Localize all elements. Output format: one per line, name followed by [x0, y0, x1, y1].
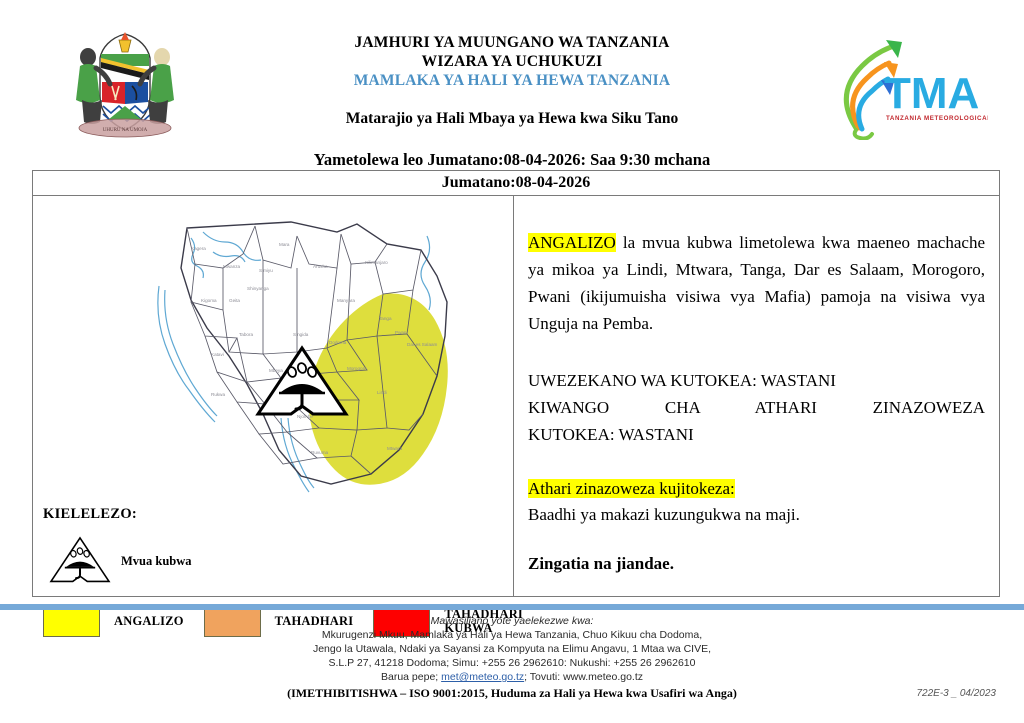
- document-footer: Mawasiliano yote yaelekezwe kwa: Mkuruge…: [0, 614, 1024, 700]
- footer-contact-intro: Mawasiliano yote yaelekezwe kwa:: [0, 614, 1024, 628]
- svg-text:Tanga: Tanga: [379, 316, 392, 321]
- tma-logo-icon: TMA TANZANIA METEOROLOGICAL AUTHORITY: [826, 36, 988, 140]
- svg-text:TANZANIA METEOROLOGICAL AUTHOR: TANZANIA METEOROLOGICAL AUTHORITY: [886, 115, 988, 122]
- svg-text:Lindi: Lindi: [377, 390, 387, 395]
- heavy-rain-triangle-icon: [49, 535, 111, 587]
- likelihood-line: UWEZEKANO WA KUTOKEA: WASTANI: [528, 367, 985, 394]
- footer-address-line-1: Mkurugenzi Mkuu, Mamlaka ya Hali ya Hewa…: [0, 628, 1024, 642]
- svg-text:Pwani: Pwani: [395, 330, 408, 335]
- svg-text:Simiyu: Simiyu: [259, 268, 273, 273]
- issued-datetime: Yametolewa leo Jumatano:08-04-2026: Saa …: [0, 150, 1024, 170]
- header-title-block: JAMHURI YA MUUNGANO WA TANZANIA WIZARA Y…: [200, 33, 824, 128]
- forecast-table: Jumatano:08-04-2026: [32, 170, 1000, 597]
- document-code: 722E-3 _ 04/2023: [916, 688, 996, 699]
- possible-impacts-block: Athari zinazoweza kujitokeza: Baadhi ya …: [528, 476, 985, 528]
- legend-title: KIELELEZO:: [43, 506, 513, 523]
- footer-email-prefix: Barua pepe;: [381, 671, 441, 683]
- svg-text:Mtwara: Mtwara: [387, 446, 403, 451]
- footer-website: ; Tovuti: www.meteo.go.tz: [524, 671, 643, 683]
- country-line-1: JAMHURI YA MUUNGANO WA TANZANIA: [200, 33, 824, 52]
- svg-text:Shinyanga: Shinyanga: [247, 286, 269, 291]
- svg-text:Kilimanjaro: Kilimanjaro: [365, 260, 388, 265]
- map-cell: Kagera Mwanza Mara Simiyu Arusha Kiliman…: [33, 196, 514, 596]
- svg-text:Arusha: Arusha: [313, 264, 328, 269]
- impact-level-line-b: KUTOKEA: WASTANI: [528, 421, 985, 448]
- svg-text:Ruvuma: Ruvuma: [311, 450, 329, 455]
- authority-line: MAMLAKA YA HALI YA HEWA TANZANIA: [200, 71, 824, 90]
- footer-email-line: Barua pepe; met@meteo.go.tz; Tovuti: www…: [0, 670, 1024, 684]
- svg-text:Rukwa: Rukwa: [211, 392, 225, 397]
- svg-text:Singida: Singida: [293, 332, 309, 337]
- impacts-text: Baadhi ya makazi kuzungukwa na maji.: [528, 502, 985, 528]
- footer-divider: [0, 604, 1024, 610]
- svg-text:Mwanza: Mwanza: [223, 264, 241, 269]
- impacts-heading: Athari zinazoweza kujitokeza:: [528, 479, 735, 498]
- impact-level-line-a: KIWANGO CHA ATHARI ZINAZOWEZA: [528, 394, 985, 421]
- svg-text:Dar es Salaam: Dar es Salaam: [407, 342, 438, 347]
- svg-text:Kigoma: Kigoma: [201, 298, 217, 303]
- svg-text:UHURU NA UMOJA: UHURU NA UMOJA: [103, 128, 148, 133]
- footer-email-link[interactable]: met@meteo.go.tz: [441, 671, 524, 683]
- legend-symbol-label: Mvua kubwa: [121, 554, 192, 569]
- legend-symbol-row: Mvua kubwa: [49, 535, 513, 587]
- svg-text:Manyara: Manyara: [337, 298, 355, 303]
- footer-phone-line: S.L.P 27, 41218 Dodoma; Simu: +255 26 29…: [0, 656, 1024, 670]
- document-subtitle: Matarajio ya Hali Mbaya ya Hewa kwa Siku…: [200, 110, 824, 128]
- table-day-header: Jumatano:08-04-2026: [33, 171, 999, 196]
- tanzania-coat-of-arms-icon: UHURU NA UMOJA: [62, 24, 188, 140]
- svg-text:Morogoro: Morogoro: [347, 366, 367, 371]
- advice-text: Zingatia na jiandae.: [528, 554, 985, 574]
- warning-text-cell: ANGALIZO la mvua kubwa limetolewa kwa ma…: [514, 196, 999, 596]
- footer-certification: (IMETHIBITISHWA – ISO 9001:2015, Huduma …: [0, 686, 1024, 700]
- heavy-rain-triangle-icon: [255, 344, 349, 422]
- alert-keyword: ANGALIZO: [528, 233, 616, 252]
- svg-text:Mara: Mara: [279, 242, 290, 247]
- svg-text:Kagera: Kagera: [191, 246, 206, 251]
- svg-text:Katavi: Katavi: [211, 352, 224, 357]
- document-header: UHURU NA UMOJA JAMHURI YA MUUNGANO WA TA…: [0, 0, 1024, 148]
- svg-text:TMA: TMA: [884, 69, 979, 118]
- country-line-2: WIZARA YA UCHUKUZI: [200, 52, 824, 71]
- likelihood-impact-block: UWEZEKANO WA KUTOKEA: WASTANI KIWANGO CH…: [528, 367, 985, 448]
- svg-text:Tabora: Tabora: [239, 332, 253, 337]
- warning-intro-paragraph: ANGALIZO la mvua kubwa limetolewa kwa ma…: [528, 229, 985, 337]
- footer-address-line-2: Jengo la Utawala, Ndaki ya Sayansi za Ko…: [0, 642, 1024, 656]
- svg-text:Geita: Geita: [229, 298, 240, 303]
